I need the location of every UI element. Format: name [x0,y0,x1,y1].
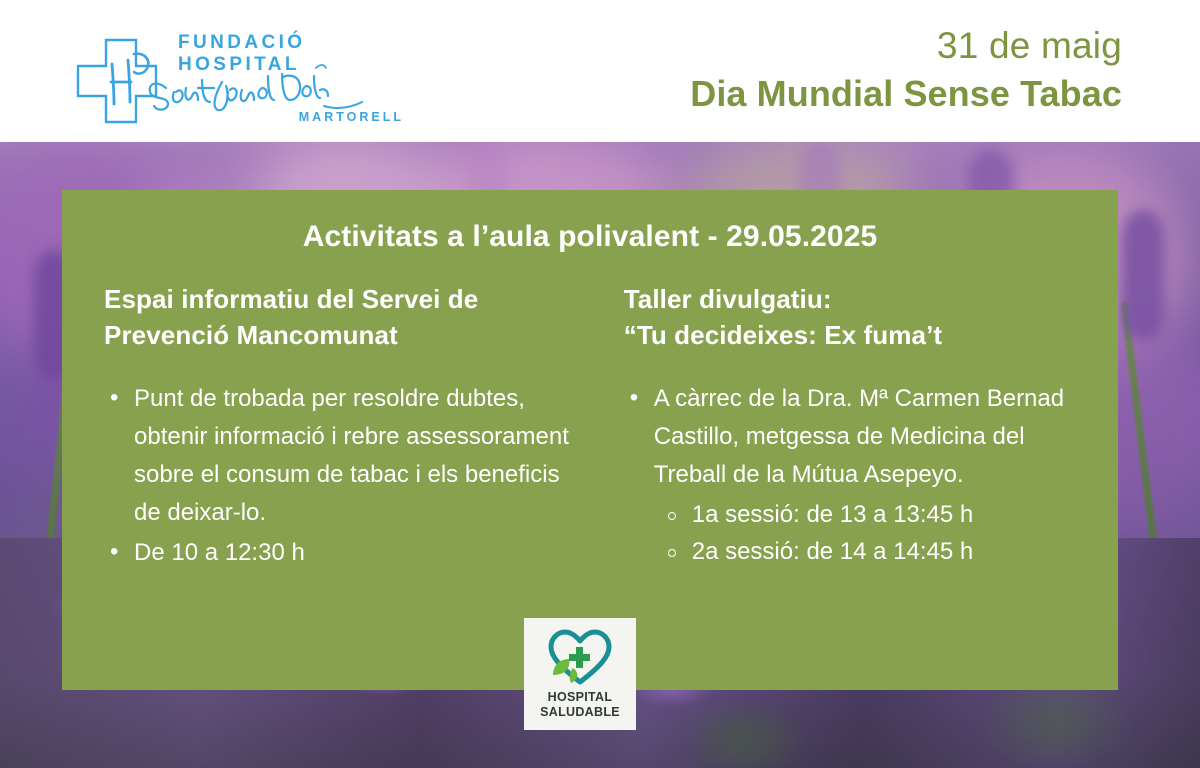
header-text-block: 31 de maig Dia Mundial Sense Tabac [690,26,1122,116]
medical-cross-icon [569,647,590,668]
column-heading-right: Taller divulgatiu: “Tu decideixes: Ex fu… [624,282,1078,356]
bullet-list-left: Punt de trobada per resoldre dubtes, obt… [104,380,576,572]
sub-list-item: 2a sessió: de 14 a 14:45 h [660,533,1078,570]
column-heading-right-line2: “Tu decideixes: Ex fuma’t [624,318,1078,354]
logo-org-name: FUNDACIÓ HOSPITAL [178,32,400,76]
bullet-list-right: A càrrec de la Dra. Mª Carmen Bernad Cas… [624,380,1078,571]
list-item: De 10 a 12:30 h [104,534,576,572]
list-item: Punt de trobada per resoldre dubtes, obt… [104,380,576,532]
activities-panel: Activitats a l’aula polivalent - 29.05.2… [62,190,1118,690]
list-item-text: A càrrec de la Dra. Mª Carmen Bernad Cas… [654,385,1064,488]
panel-title: Activitats a l’aula polivalent - 29.05.2… [62,190,1118,254]
header-band: FUNDACIÓ HOSPITAL MARTORELL 31 de maig D… [0,0,1200,142]
fundacio-hospital-logo: FUNDACIÓ HOSPITAL MARTORELL [70,30,400,130]
hospital-saludable-badge: HOSPITAL SALUDABLE [524,618,636,730]
sub-list-item: 1a sessió: de 13 a 13:45 h [660,496,1078,533]
campaign-date: 31 de maig [690,26,1122,67]
campaign-title: Dia Mundial Sense Tabac [690,71,1122,116]
panel-columns: Espai informatiu del Servei de Prevenció… [62,254,1118,574]
sub-bullet-list: 1a sessió: de 13 a 13:45 h 2a sessió: de… [660,496,1078,571]
badge-label: HOSPITAL SALUDABLE [540,690,620,720]
heart-leaf-cross-icon [543,626,617,688]
column-heading-left: Espai informatiu del Servei de Prevenció… [104,282,576,356]
logo-location: MARTORELL [299,110,404,124]
column-heading-right-line1: Taller divulgatiu: [624,282,1078,318]
badge-label-line1: HOSPITAL [540,690,620,705]
poster: FUNDACIÓ HOSPITAL MARTORELL 31 de maig D… [0,0,1200,768]
badge-label-line2: SALUDABLE [540,705,620,720]
list-item: A càrrec de la Dra. Mª Carmen Bernad Cas… [624,380,1078,571]
column-taller-divulgatiu: Taller divulgatiu: “Tu decideixes: Ex fu… [606,282,1078,574]
column-espai-informatiu: Espai informatiu del Servei de Prevenció… [104,282,576,574]
script-signature [150,74,328,110]
